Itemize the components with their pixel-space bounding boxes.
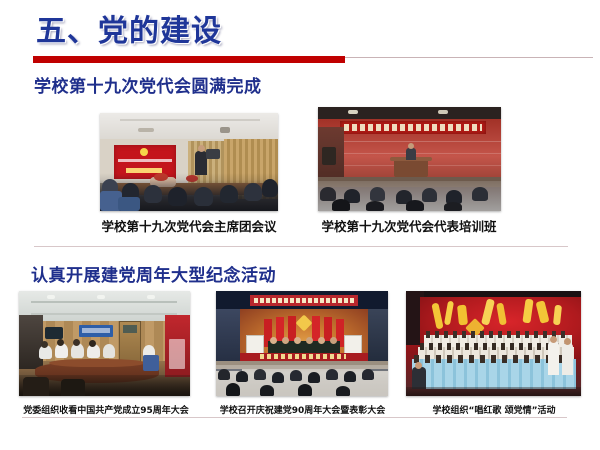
photo-caption: 学校第十九次党代会代表培训班 [303, 216, 515, 235]
photo-scene [100, 113, 278, 211]
section-heading-1: 学校第十九次党代会圆满完成 [34, 72, 262, 97]
page-title: 五、党的建设 [36, 17, 222, 47]
photo-scene [19, 291, 190, 396]
photo-caption: 党委组织收看中国共产党成立95周年大会 [18, 403, 194, 416]
photo-scene [406, 291, 581, 396]
photo-caption: 学校第十九次党代会主席团会议 [83, 216, 295, 235]
photo-caption: 学校召开庆祝建党90周年大会暨表彰大会 [210, 403, 395, 416]
photo-training-class [318, 107, 501, 211]
section-heading-2: 认真开展建党周年大型纪念活动 [31, 261, 276, 286]
photo-scene [216, 291, 388, 396]
section-divider [34, 246, 568, 247]
slide-canvas: 五、党的建设 学校第十九次党代会圆满完成 [0, 0, 600, 450]
title-divider [33, 56, 593, 59]
bottom-divider [22, 417, 567, 418]
photo-scene [318, 107, 501, 211]
photo-anniversary-meeting [216, 291, 388, 396]
title-divider-accent [33, 56, 345, 63]
photo-choir-performance [406, 291, 581, 396]
photo-meeting-room [100, 113, 278, 211]
photo-conference-room [19, 291, 190, 396]
photo-caption: 学校组织“唱红歌 颂党情”活动 [404, 403, 584, 416]
